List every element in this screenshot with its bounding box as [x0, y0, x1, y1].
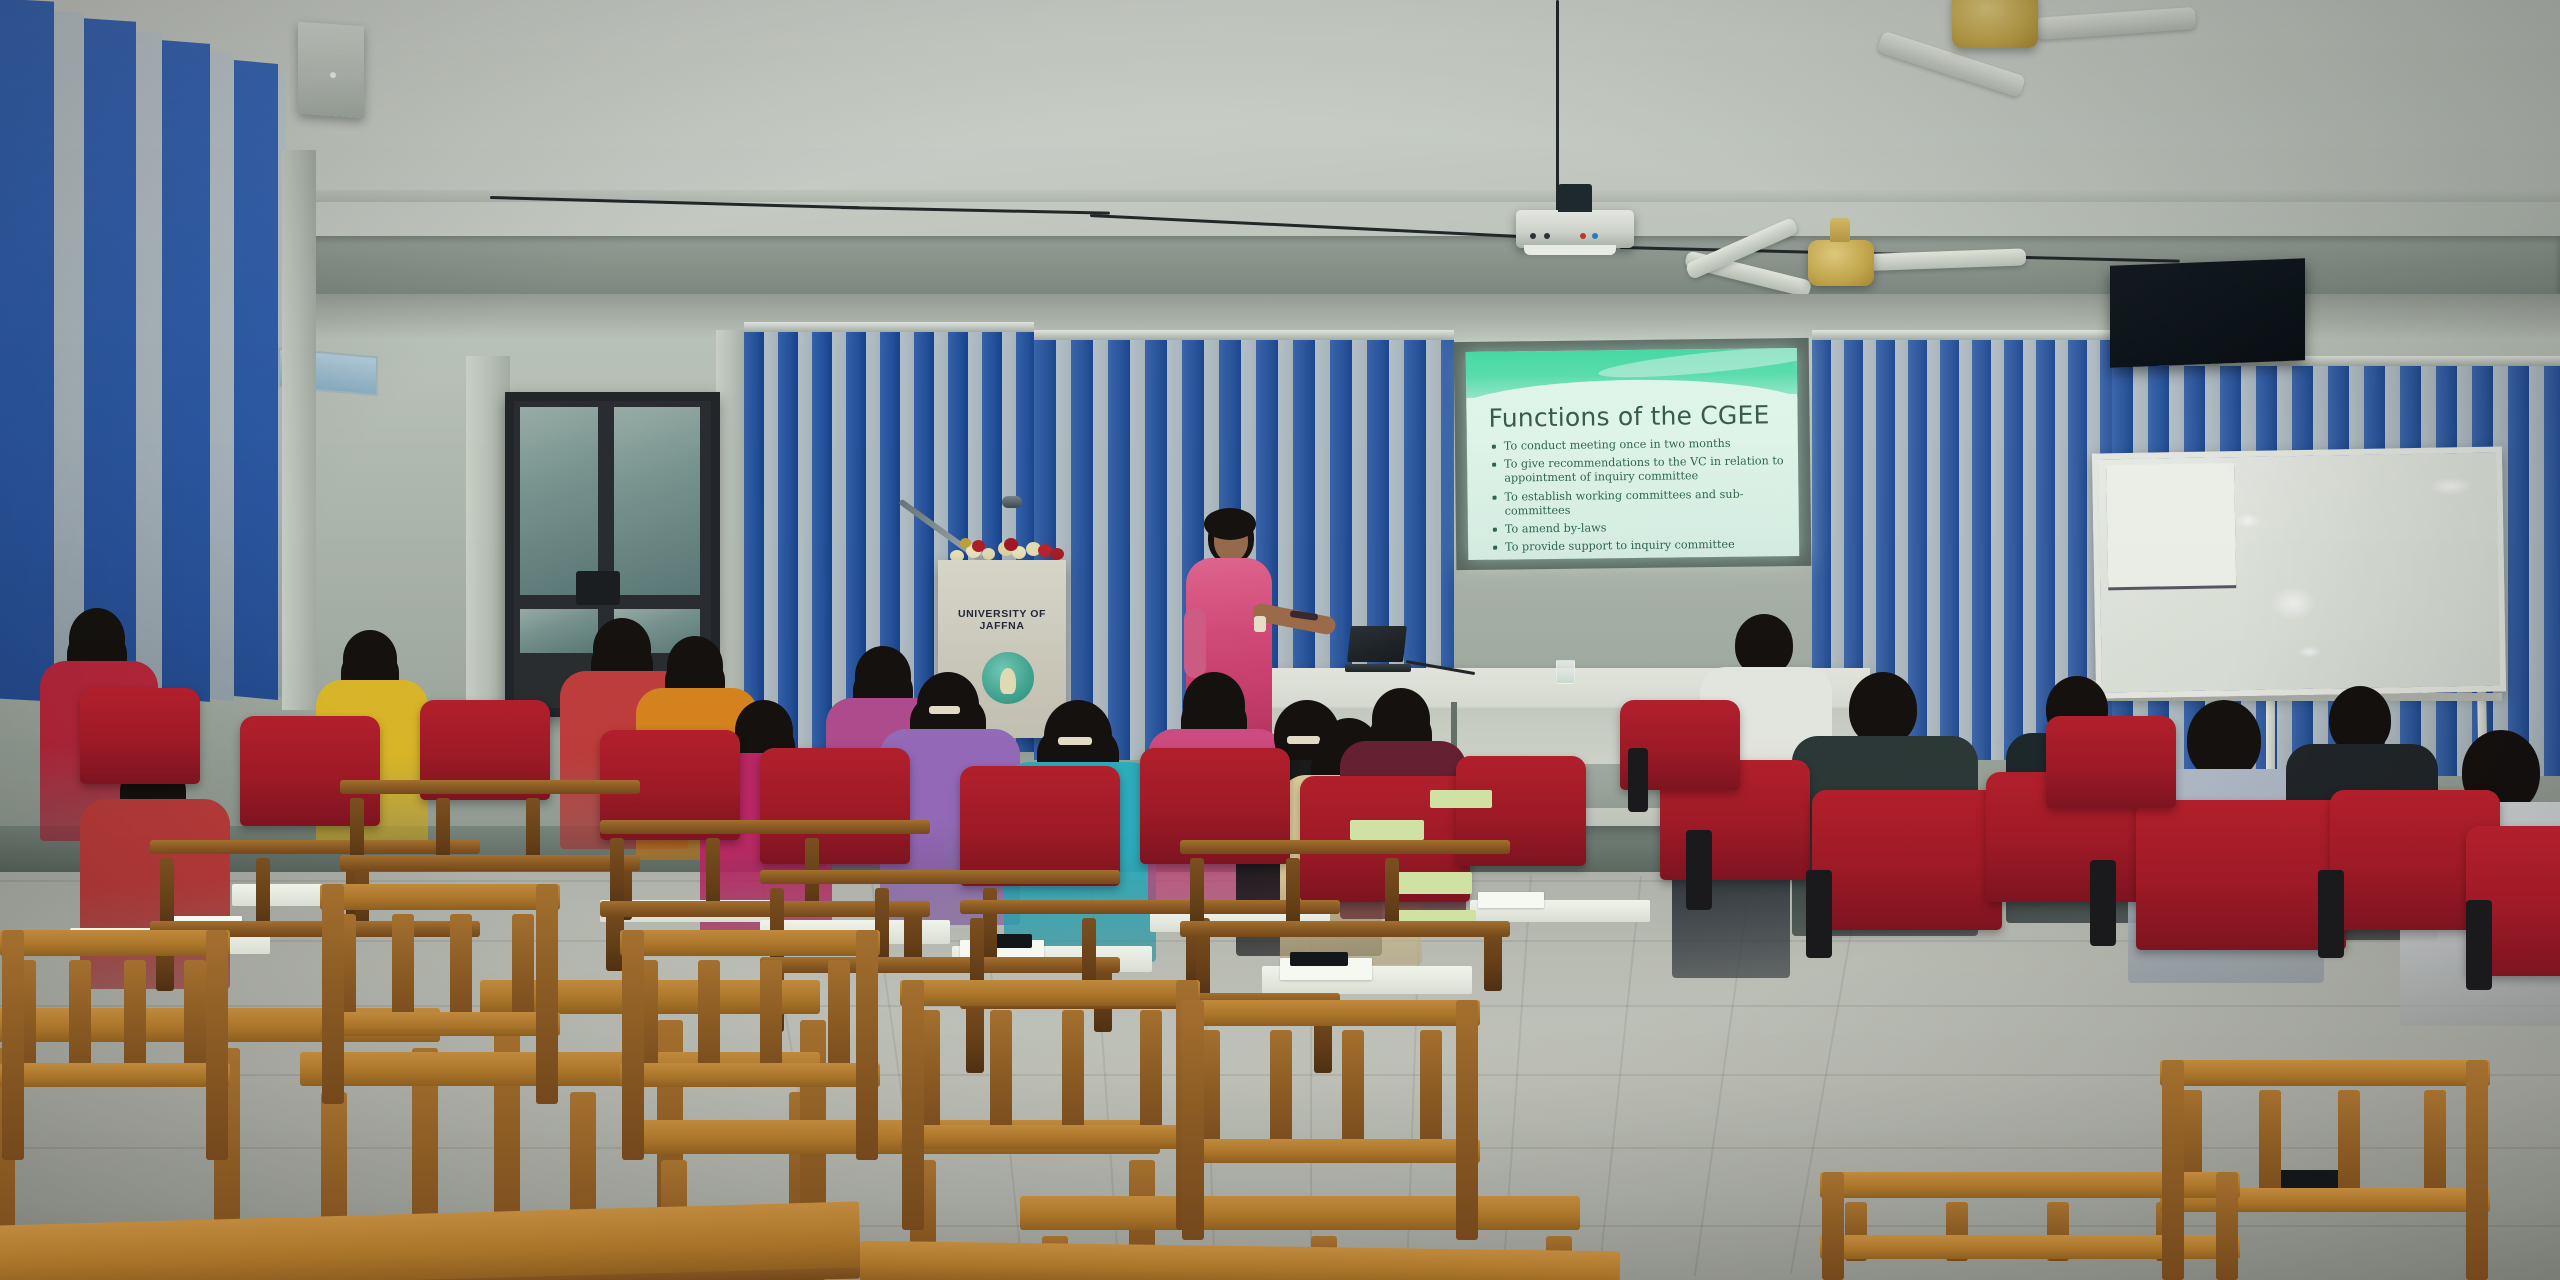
chair-armrest: [2466, 900, 2492, 990]
door-handle[interactable]: [576, 571, 620, 605]
paper-sheet: [1478, 892, 1544, 908]
blind-slat: [2508, 356, 2529, 776]
bench-seat-plank: [1020, 1196, 1580, 1230]
ceiling-projector: [1516, 210, 1634, 248]
ceiling-cable-vertical: [1556, 0, 1559, 214]
chair-back-post: [1822, 1172, 1844, 1280]
blind-slat: [1130, 330, 1145, 760]
chair-back-top: [620, 930, 880, 956]
lecture-hall-photo: Functions of the CGEE To conduct meeting…: [0, 0, 2560, 1280]
whiteboard-paper-sheet: [2106, 463, 2236, 587]
chair-back-post: [322, 884, 344, 1104]
auditorium-chair[interactable]: [760, 748, 910, 864]
slide-bullet-1: To conduct meeting once in two months: [1491, 436, 1784, 454]
wall-mounted-tv: [2110, 258, 2305, 367]
blind-slat: [54, 11, 84, 703]
blind-slat: [1108, 330, 1130, 760]
whiteboard-surface[interactable]: [2092, 446, 2506, 698]
bench-top-rail: [340, 780, 640, 794]
bench-mid-rail: [760, 957, 1120, 973]
auditorium-chair[interactable]: [1812, 790, 2002, 930]
chair-back-post: [622, 930, 644, 1160]
blind-slat: [1991, 330, 2004, 760]
slide-bullet-2: To give recommendations to the VC in rel…: [1491, 454, 1784, 486]
projection-screen: Functions of the CGEE To conduct meeting…: [1454, 338, 1812, 570]
wall-pillar-left: [282, 150, 316, 710]
bench-top-rail: [150, 840, 480, 854]
bench-top-rail: [600, 820, 930, 834]
notepad: [1392, 872, 1472, 894]
blind-headrail: [1034, 330, 1454, 340]
slide-bullet-5: To provide support to inquiry committee: [1492, 537, 1785, 555]
bench-top-rail: [1180, 840, 1510, 854]
slide-bullet-list: To conduct meeting once in two monthsTo …: [1491, 436, 1785, 559]
blind-slat: [2529, 356, 2544, 776]
whiteboard-glare-1: [2235, 513, 2261, 529]
presenter-laptop[interactable]: [1345, 626, 1407, 668]
chair-back-post: [1182, 1000, 1204, 1240]
slide-header-wave: [1466, 348, 1798, 398]
mobile-phone: [1290, 952, 1348, 966]
bench-top-rail: [960, 900, 1340, 914]
water-glass: [1556, 660, 1575, 684]
chair-back-post: [2216, 1172, 2238, 1280]
slide-bullet-3: To establish working committees and sub-…: [1491, 487, 1784, 519]
slide-title: Functions of the CGEE: [1488, 400, 1769, 432]
chair-back-top: [2160, 1060, 2490, 1086]
chair-back-rail: [620, 1063, 880, 1087]
whiteboard-glare-2: [2270, 586, 2317, 621]
blind-slat: [0, 0, 54, 702]
chair-back-rail: [1180, 1139, 1480, 1163]
ceiling-beam-upper: [0, 190, 2560, 202]
presentation-slide: Functions of the CGEE To conduct meeting…: [1466, 348, 1800, 560]
whiteboard-glare-4: [2297, 646, 2321, 658]
blind-headrail: [744, 322, 1034, 332]
presenter-hair: [1204, 508, 1256, 540]
blind-slat: [798, 322, 812, 752]
microphone-head: [1002, 496, 1022, 508]
flower: [982, 548, 995, 560]
presenter-arm-left: [1184, 608, 1206, 678]
auditorium-chair[interactable]: [960, 766, 1120, 886]
bench-mid-rail: [1180, 921, 1510, 937]
chair-back-rail: [0, 1063, 230, 1087]
notepad: [1350, 820, 1424, 840]
audience-head: [1849, 672, 1917, 746]
chair-back-post: [2162, 1060, 2184, 1280]
blind-slat: [1071, 330, 1093, 760]
auditorium-chair[interactable]: [80, 688, 200, 784]
slide-bullet-4: To amend by-laws: [1492, 519, 1785, 537]
chair-armrest: [1686, 830, 1712, 910]
chair-back-post: [536, 884, 558, 1104]
bench-mid-rail: [340, 855, 640, 871]
blind-slat: [210, 53, 234, 701]
door-glass-upper-left: [520, 407, 598, 595]
chair-back-post: [1456, 1000, 1478, 1240]
blind-slat: [136, 31, 162, 701]
blind-slat: [1093, 330, 1108, 760]
chair-back-top: [320, 884, 560, 910]
blind-slat: [2544, 356, 2560, 776]
flower: [972, 540, 985, 552]
chair-armrest: [1628, 748, 1648, 812]
hair-clip: [929, 706, 960, 714]
chair-armrest: [1806, 870, 1832, 958]
blind-slat: [764, 322, 778, 752]
flower: [1004, 538, 1018, 551]
chair-back-post: [902, 980, 924, 1230]
auditorium-chair[interactable]: [2046, 716, 2176, 808]
blind-slat: [84, 18, 136, 702]
chair-back-post: [856, 930, 878, 1160]
chair-back-post: [2466, 1060, 2488, 1280]
blind-slat: [234, 60, 278, 700]
chair-back-post: [2, 930, 24, 1160]
chair-back-top: [0, 930, 230, 956]
chair-armrest: [2090, 860, 2116, 946]
notepad: [1430, 790, 1492, 808]
hair-clip: [1058, 737, 1092, 745]
presenter-bangle: [1254, 616, 1266, 632]
chair-back-rail: [900, 1125, 1200, 1149]
chair-back-post: [206, 930, 228, 1160]
whiteboard-glare-3: [2428, 477, 2472, 496]
wall-pillar-door: [466, 356, 510, 716]
chair-armrest: [2318, 870, 2344, 958]
podium-banner-text: UNIVERSITY OF JAFFNA: [938, 608, 1066, 632]
bench-top-rail: [760, 870, 1120, 884]
auditorium-chair[interactable]: [2136, 800, 2346, 950]
blind-slat: [778, 322, 798, 752]
flower: [1050, 548, 1064, 560]
flower: [960, 538, 971, 548]
chair-back-rail: [320, 1012, 560, 1036]
wall-speaker: [298, 22, 364, 119]
door-glass-upper-right: [614, 407, 700, 595]
blind-headrail: [1812, 330, 2112, 340]
chair-back-top: [900, 980, 1200, 1006]
blind-slat: [162, 40, 210, 702]
chair-back-top: [1180, 1000, 1480, 1026]
